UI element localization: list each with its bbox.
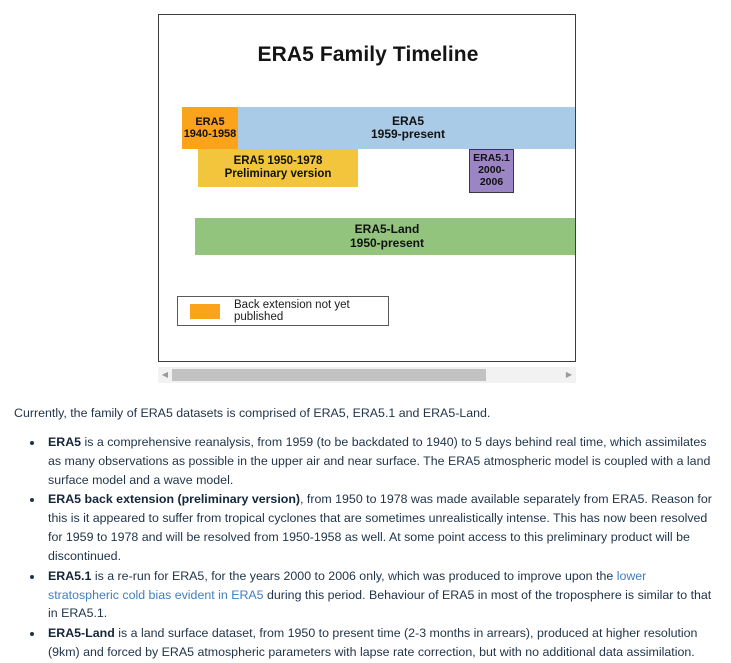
scrollbar-thumb[interactable] — [172, 369, 486, 381]
scrollbar-track[interactable] — [172, 367, 562, 383]
scroll-left-arrow-icon[interactable]: ◀ — [158, 367, 172, 383]
list-item-era5-1: ERA5.1 is a re-run for ERA5, for the yea… — [44, 567, 720, 624]
bar-label-line1: ERA5-Land — [355, 223, 420, 236]
bar-label-line2: 1950-present — [350, 237, 424, 250]
bullet-text: is a land surface dataset, from 1950 to … — [48, 626, 697, 659]
timeline-bar-era5-back-extension: ERA5 1940-1958 — [182, 107, 238, 149]
era5-timeline-figure-panel: ERA5 Family Timeline ERA5 1940-1958 ERA5… — [158, 14, 576, 362]
dataset-bullet-list: ERA5 is a comprehensive reanalysis, from… — [14, 433, 720, 662]
figure-horizontal-scrollbar[interactable]: ◀ ▶ — [158, 367, 576, 383]
intro-paragraph: Currently, the family of ERA5 datasets i… — [14, 404, 720, 423]
bullet-term: ERA5.1 — [48, 569, 91, 583]
bullet-text: is a re-run for ERA5, for the years 2000… — [91, 569, 616, 583]
bar-label-line2: 1959-present — [371, 128, 445, 141]
bar-label-line1: ERA5 — [195, 116, 224, 128]
legend-label: Back extension not yet published — [234, 299, 388, 323]
list-item-era5: ERA5 is a comprehensive reanalysis, from… — [44, 433, 720, 490]
bar-label-line1: ERA5 — [392, 115, 424, 128]
legend-swatch-orange — [190, 304, 220, 319]
list-item-era5-back-extension: ERA5 back extension (preliminary version… — [44, 490, 720, 565]
timeline-bar-era5-preliminary: ERA5 1950-1978 Preliminary version — [198, 149, 358, 187]
figure-title: ERA5 Family Timeline — [159, 43, 576, 67]
bullet-text: is a comprehensive reanalysis, from 1959… — [48, 435, 710, 487]
figure-legend: Back extension not yet published — [177, 296, 389, 326]
bullet-term: ERA5 back extension (preliminary version… — [48, 492, 300, 506]
timeline-bar-era5: ERA5 1959-present — [237, 107, 576, 149]
timeline-bar-era5-land: ERA5-Land 1950-present — [195, 218, 576, 255]
bar-label-line2: 1940-1958 — [184, 128, 237, 140]
bar-label-line1: ERA5 1950-1978 — [234, 155, 323, 168]
article-body: Currently, the family of ERA5 datasets i… — [14, 404, 720, 663]
bullet-term: ERA5-Land — [48, 626, 115, 640]
bar-label-line3: 2006 — [480, 177, 503, 189]
scroll-right-arrow-icon[interactable]: ▶ — [562, 367, 576, 383]
timeline-bar-era5-1: ERA5.1 2000- 2006 — [469, 149, 514, 193]
bullet-term: ERA5 — [48, 435, 81, 449]
bar-label-line2: Preliminary version — [225, 168, 332, 181]
list-item-era5-land: ERA5-Land is a land surface dataset, fro… — [44, 624, 720, 662]
